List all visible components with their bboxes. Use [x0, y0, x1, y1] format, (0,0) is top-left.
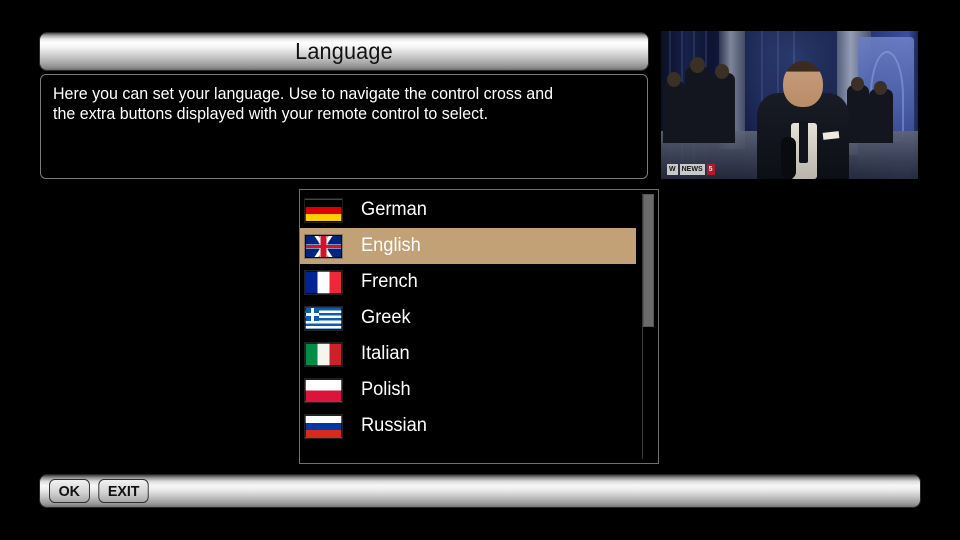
crowd-person-head	[667, 72, 681, 87]
language-list-item-label: Polish	[361, 379, 411, 401]
language-list-item-label: Italian	[361, 343, 410, 365]
channel-logo-part3: 5	[707, 164, 715, 175]
video-preview[interactable]: W NEWS 5	[661, 31, 918, 179]
language-list-item[interactable]: English	[300, 228, 636, 264]
language-list-item[interactable]: German	[300, 192, 636, 228]
language-list-item[interactable]: French	[300, 264, 636, 300]
language-list-item-label: German	[361, 199, 427, 221]
flag-poland-icon	[305, 379, 342, 402]
language-list-panel: GermanEnglishFrenchGreekItalianPolishRus…	[299, 189, 659, 464]
crowd-person-head	[874, 81, 887, 95]
exit-button[interactable]: EXIT	[98, 479, 149, 503]
crowd-person	[711, 73, 735, 143]
tv-settings-screen: Language Here you can set your language.…	[0, 0, 960, 540]
description-text: Here you can set your language. Use to n…	[53, 84, 618, 124]
list-scrollbar[interactable]	[642, 194, 653, 459]
flag-russia-icon	[305, 415, 342, 438]
crowd-person	[847, 85, 869, 143]
language-list-item-label: Greek	[361, 307, 411, 329]
language-list-item-label: Russian	[361, 415, 427, 437]
bottom-softkey-bar: OK EXIT	[40, 475, 920, 507]
crowd-person-head	[690, 57, 705, 73]
flag-france-icon	[305, 271, 342, 294]
language-list-item[interactable]: Russian	[300, 408, 636, 444]
crowd-person	[663, 81, 685, 143]
language-list-item[interactable]: Italian	[300, 336, 636, 372]
crowd-person	[685, 67, 711, 143]
language-list-item-label: French	[361, 271, 418, 293]
title-bar: Language	[40, 33, 648, 70]
description-box: Here you can set your language. Use to n…	[40, 74, 648, 179]
language-list-item[interactable]: Greek	[300, 300, 636, 336]
crowd-person	[869, 89, 893, 143]
list-scrollbar-thumb[interactable]	[643, 194, 654, 327]
flag-greece-icon	[305, 307, 342, 330]
channel-logo-part2: NEWS	[680, 164, 705, 175]
flag-germany-icon	[305, 199, 342, 222]
language-list: GermanEnglishFrenchGreekItalianPolishRus…	[300, 192, 636, 444]
channel-logo-part1: W	[667, 164, 678, 175]
language-list-item[interactable]: Polish	[300, 372, 636, 408]
ok-button[interactable]: OK	[49, 479, 89, 503]
language-list-item-label: English	[361, 235, 421, 257]
reporter-head	[783, 61, 823, 107]
crowd-person-head	[851, 77, 864, 91]
page-title: Language	[295, 38, 393, 65]
flag-italy-icon	[305, 343, 342, 366]
microphone	[781, 137, 796, 179]
channel-logo: W NEWS 5	[667, 164, 715, 175]
reporter-tie	[799, 121, 808, 163]
flag-united-kingdom-icon	[305, 235, 342, 258]
crowd-person-head	[715, 64, 729, 79]
